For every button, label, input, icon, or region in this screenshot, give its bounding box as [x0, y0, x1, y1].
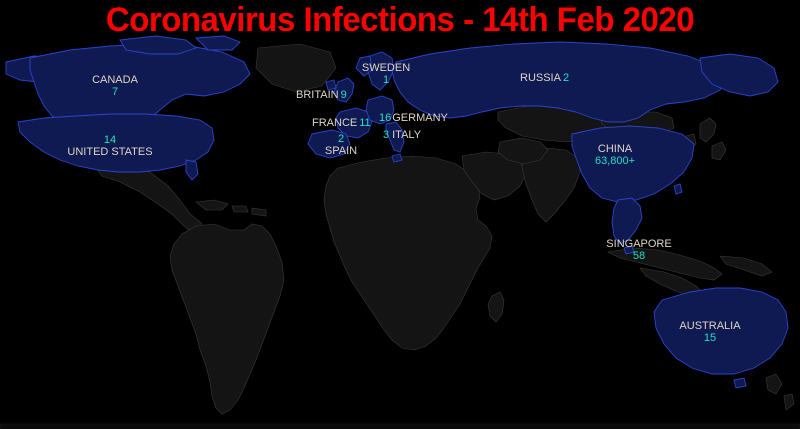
label-singapore-value: 58: [596, 250, 682, 262]
label-russia: RUSSIA2: [520, 72, 569, 84]
label-france-value: 11: [359, 117, 370, 129]
label-canada-value: 7: [84, 86, 146, 98]
label-china-name: CHINA: [575, 143, 655, 155]
label-germany-name: GERMANY: [392, 112, 448, 124]
label-spain-value: 2: [310, 133, 372, 145]
label-united-states: 14 UNITED STATES: [55, 134, 165, 158]
label-russia-value: 2: [563, 72, 569, 84]
label-britain-value: 9: [341, 89, 347, 101]
label-singapore-name: SINGAPORE: [596, 238, 682, 250]
label-canada: CANADA 7: [84, 74, 146, 98]
label-sweden-value: 1: [355, 74, 417, 86]
label-sweden-name: SWEDEN: [355, 62, 417, 74]
label-spain: 2 SPAIN: [310, 133, 372, 157]
label-germany: 16GERMANY: [377, 112, 448, 124]
label-germany-value: 16: [379, 112, 391, 124]
label-britain: BRITAIN9: [296, 89, 347, 101]
label-italy-value: 3: [383, 129, 389, 141]
label-italy-name: ITALY: [392, 129, 421, 141]
label-britain-name: BRITAIN: [296, 89, 339, 101]
page-title: Coronavirus Infections - 14th Feb 2020: [12, 0, 788, 42]
label-russia-name: RUSSIA: [520, 72, 561, 84]
label-australia: AUSTRALIA 15: [668, 320, 752, 344]
label-australia-name: AUSTRALIA: [668, 320, 752, 332]
label-canada-name: CANADA: [84, 74, 146, 86]
map-infographic: Coronavirus Infections - 14th Feb 2020: [0, 0, 800, 429]
label-italy: 3ITALY: [381, 129, 421, 141]
label-australia-value: 15: [668, 332, 752, 344]
label-china-value: 63,800+: [575, 155, 655, 167]
label-france: FRANCE11: [312, 117, 371, 129]
label-france-name: FRANCE: [312, 117, 357, 129]
label-united-states-value: 14: [55, 134, 165, 146]
label-china: CHINA 63,800+: [575, 143, 655, 167]
label-singapore: SINGAPORE 58: [596, 238, 682, 262]
label-sweden: SWEDEN 1: [355, 62, 417, 86]
label-united-states-name: UNITED STATES: [55, 146, 165, 158]
label-spain-name: SPAIN: [310, 145, 372, 157]
